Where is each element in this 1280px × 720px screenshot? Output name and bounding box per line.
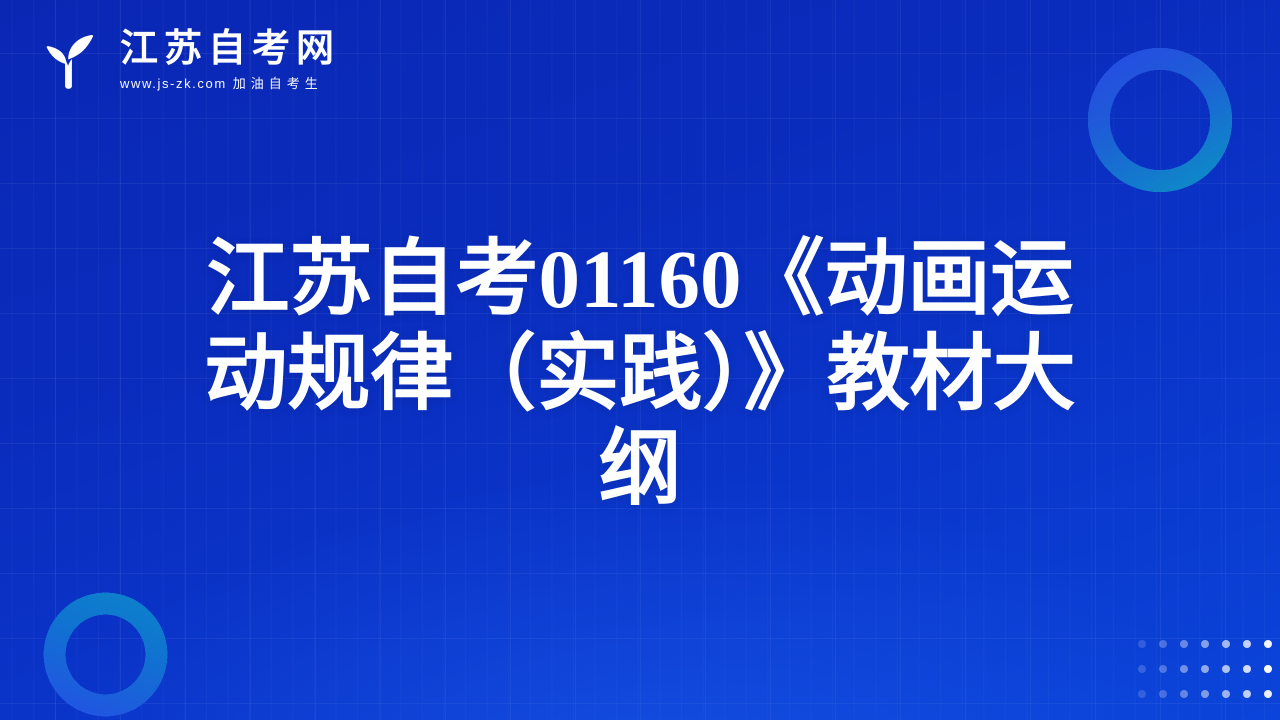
gradient-ring-icon — [18, 567, 193, 720]
dot-1-1 — [1159, 665, 1167, 673]
site-logo[interactable]: 江苏自考网 www.js-zk.com加油自考生 — [30, 23, 340, 99]
dot-1-0 — [1138, 665, 1146, 673]
brand-name: 江苏自考网 — [120, 30, 340, 70]
dot-1-6 — [1264, 665, 1272, 673]
dot-0-4 — [1222, 640, 1230, 648]
dot-grid-decoration — [1131, 631, 1278, 706]
dot-0-3 — [1201, 640, 1209, 648]
dot-2-0 — [1138, 690, 1146, 698]
dot-0-1 — [1159, 640, 1167, 648]
dot-1-5 — [1243, 665, 1251, 673]
dot-2-6 — [1264, 690, 1272, 698]
ring-top-right-decoration — [1058, 18, 1262, 222]
gradient-ring-icon — [1058, 18, 1262, 222]
page-title: 江苏自考01160《动画运动规律（实践）》教材大纲 — [190, 232, 1090, 517]
dot-0-2 — [1180, 640, 1188, 648]
brand-tagline: www.js-zk.com加油自考生 — [120, 73, 340, 92]
dot-2-1 — [1159, 690, 1167, 698]
brand-tagline-slogan: 加油自考生 — [233, 76, 323, 91]
logo-text-block: 江苏自考网 www.js-zk.com加油自考生 — [120, 30, 340, 93]
dot-2-2 — [1180, 690, 1188, 698]
dot-1-4 — [1222, 665, 1230, 673]
dot-2-4 — [1222, 690, 1230, 698]
ring-bottom-left-decoration — [18, 567, 193, 720]
poster-canvas: 江苏自考网 www.js-zk.com加油自考生 江苏自考01160《动画运动规… — [0, 0, 1280, 720]
dot-1-2 — [1180, 665, 1188, 673]
brand-tagline-url: www.js-zk.com — [120, 76, 227, 91]
sprout-icon — [30, 23, 106, 99]
dot-0-6 — [1264, 640, 1272, 648]
dot-0-0 — [1138, 640, 1146, 648]
dot-2-3 — [1201, 690, 1209, 698]
dot-1-3 — [1201, 665, 1209, 673]
dot-2-5 — [1243, 690, 1251, 698]
dot-0-5 — [1243, 640, 1251, 648]
